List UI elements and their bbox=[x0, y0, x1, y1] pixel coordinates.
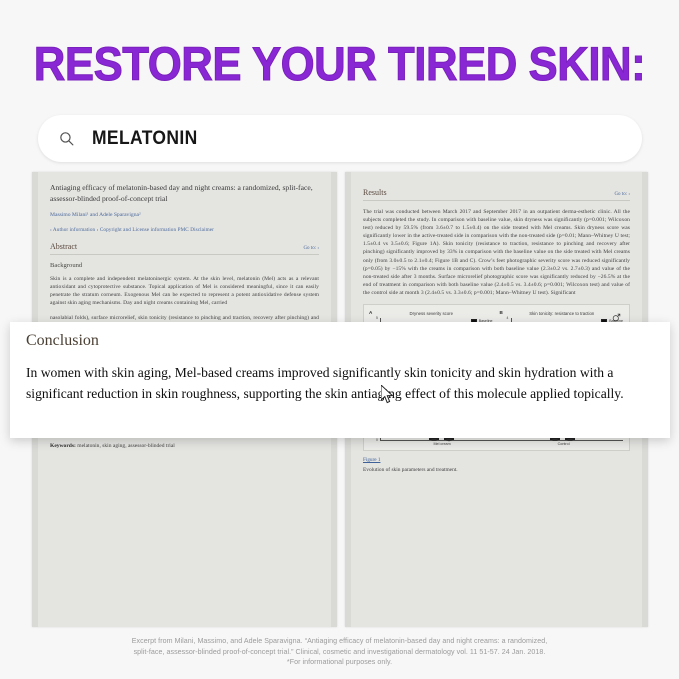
attribution-line-3: *For informational purposes only. bbox=[90, 657, 589, 668]
goto-link[interactable]: Go to: › bbox=[303, 246, 319, 251]
chart-a-ytick-5: 5 bbox=[376, 316, 378, 320]
conclusion-overlay: Conclusion In women with skin aging, Mel… bbox=[10, 322, 670, 438]
page-title: RESTORE YOUR TIRED SKIN: bbox=[24, 38, 655, 90]
source-attribution: Excerpt from Milani, Massimo, and Adele … bbox=[0, 636, 679, 668]
keywords-label: Keywords: bbox=[50, 443, 76, 449]
attribution-line-2: split-face, assessor-blinded proof-of-co… bbox=[90, 647, 589, 658]
chart-a-title: Dryness severity score bbox=[368, 311, 495, 316]
overlay-title: Conclusion bbox=[26, 332, 654, 350]
chart-b-title: Skin tonicity: resistance to traction bbox=[499, 311, 626, 316]
chart-b-panel-letter: B bbox=[500, 310, 503, 315]
keywords-value: melatonin, skin aging, assessor-blinded … bbox=[76, 443, 175, 449]
page-root: RESTORE YOUR TIRED SKIN: MELATONIN Antia… bbox=[0, 0, 679, 679]
article-authors[interactable]: Massimo Milani¹ and Adele Sparavigna² bbox=[50, 211, 319, 220]
chart-c-xlabel-1: Control bbox=[558, 442, 570, 446]
figure-caption: Evolution of skin parameters and treatme… bbox=[363, 467, 630, 473]
search-icon bbox=[58, 130, 75, 147]
background-paragraph: Skin is a complete and independent melat… bbox=[50, 275, 319, 307]
attribution-line-1: Excerpt from Milani, Massimo, and Adele … bbox=[90, 636, 589, 647]
background-heading: Background bbox=[50, 262, 319, 269]
search-input[interactable]: MELATONIN bbox=[92, 128, 198, 150]
chart-c-xlabels: Mel cream Control bbox=[380, 442, 623, 446]
results-heading-right: Results bbox=[363, 188, 387, 197]
figure-link[interactable]: Figure 1 bbox=[363, 457, 630, 463]
search-bar[interactable]: MELATONIN bbox=[38, 115, 642, 162]
section-header-abstract: Abstract Go to: › bbox=[50, 242, 319, 255]
results-paragraph-right: The trial was conducted between March 20… bbox=[363, 208, 630, 297]
chart-a-panel-letter: A bbox=[369, 310, 372, 315]
chart-c-ytick-0: 0 bbox=[376, 438, 378, 442]
chart-b-ytick-4: 4 bbox=[507, 316, 509, 320]
article-title: Antiaging efficacy of melatonin-based da… bbox=[50, 182, 319, 204]
section-header-results: Results Go to: › bbox=[363, 188, 630, 201]
abstract-heading: Abstract bbox=[50, 242, 77, 251]
keywords-line: Keywords: melatonin, skin aging, assesso… bbox=[50, 442, 319, 450]
article-meta-links[interactable]: › Author information › Copyright and Lic… bbox=[50, 226, 319, 235]
overlay-body: In women with skin aging, Mel-based crea… bbox=[26, 362, 654, 404]
goto-link-right[interactable]: Go to: › bbox=[614, 192, 630, 197]
